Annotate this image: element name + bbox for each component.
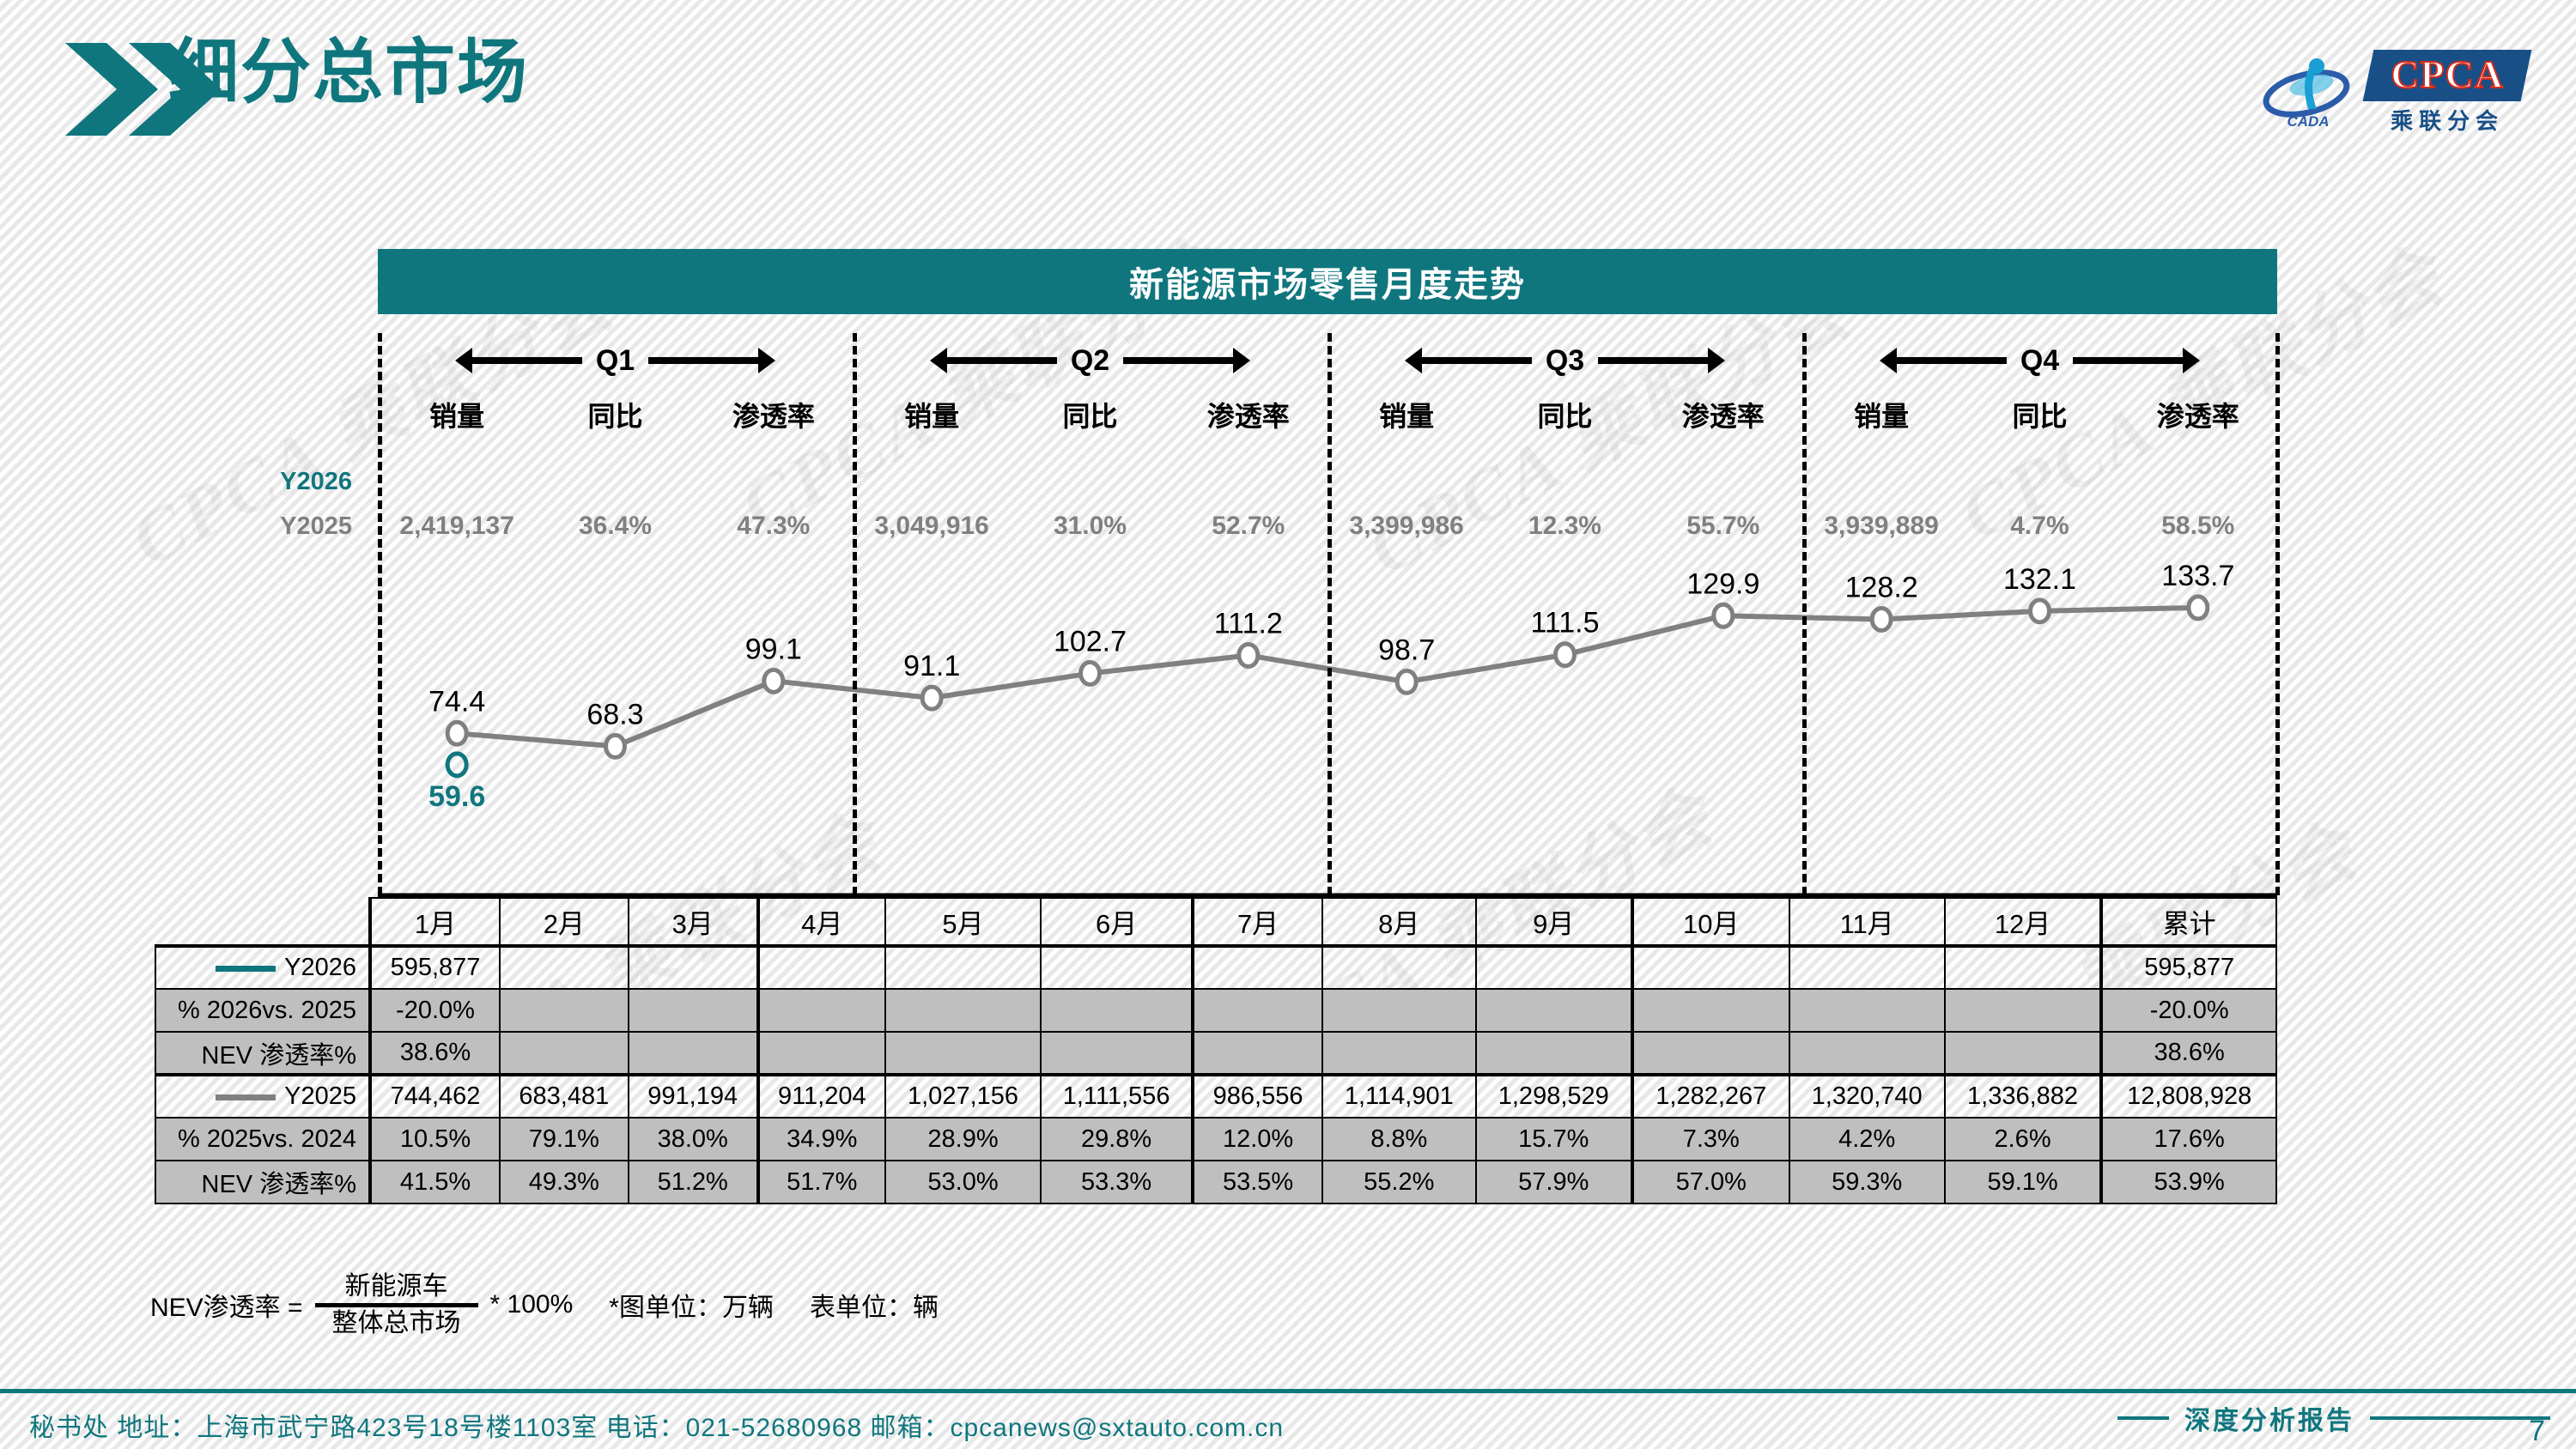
quarter-label: Q3	[1540, 344, 1589, 378]
table-row: % 2026vs. 2025 -20.0% -20.0%	[155, 989, 2276, 1032]
table-cell: 59.1%	[1945, 1161, 2102, 1203]
table-cell	[885, 989, 1041, 1032]
footer-report-label: 深度分析报告	[2184, 1399, 2354, 1437]
summary-cell: 3,399,986	[1327, 512, 1485, 541]
table-cell: 57.9%	[1476, 1161, 1633, 1203]
table-cell: 744,462	[370, 1075, 500, 1118]
data-point-label: 111.5	[1530, 607, 1599, 640]
table-row: NEV 渗透率% 41.5% 49.3% 51.2% 51.7% 53.0% 5…	[155, 1161, 2276, 1203]
legend-swatch-gray-icon	[216, 1094, 276, 1100]
table-cell: 1,320,740	[1789, 1075, 1945, 1118]
table-cell-total: 53.9%	[2101, 1161, 2276, 1203]
quarter-divider-end	[2275, 333, 2280, 895]
legend-swatch-teal-icon	[216, 966, 276, 972]
row-label-pct-2026: % 2026vs. 2025	[155, 989, 370, 1032]
svg-text:CADA: CADA	[2287, 113, 2330, 130]
monthly-data-table: 1月 2月 3月 4月 5月 6月 7月 8月 9月 10月 11月 12月 累…	[155, 897, 2277, 1204]
table-cell	[1476, 989, 1633, 1032]
table-cell	[758, 1032, 885, 1075]
column-header-month: 7月	[1193, 898, 1322, 946]
column-header-month: 1月	[370, 898, 500, 946]
data-point-marker	[1714, 604, 1733, 627]
table-cell: 34.9%	[758, 1118, 885, 1161]
footer-contact: 秘书处 地址：上海市武宁路423号18号楼1103室 电话：021-526809…	[29, 1406, 1284, 1444]
metric-header: 同比	[1011, 395, 1169, 446]
column-header-month: 5月	[885, 898, 1041, 946]
metric-header: 同比	[1485, 395, 1643, 446]
formula-numerator: 新能源车	[345, 1272, 448, 1303]
table-cell: 7.3%	[1632, 1118, 1789, 1161]
arrow-left-icon	[471, 357, 582, 364]
metric-header: 销量	[853, 395, 1011, 446]
cpca-wordmark: CPCA 乘联分会	[2368, 50, 2526, 136]
table-cell: -20.0%	[370, 989, 500, 1032]
summary-cell: 47.3%	[695, 512, 853, 541]
metric-header: 同比	[536, 395, 694, 446]
table-cell: 53.5%	[1193, 1161, 1322, 1203]
quarter-divider-q2-q3	[1327, 333, 1332, 895]
table-cell-total: -20.0%	[2101, 989, 2276, 1032]
table-cell	[1476, 1032, 1633, 1075]
table-cell: 49.3%	[500, 1161, 629, 1203]
data-point-marker	[447, 722, 466, 744]
formula-fraction: 新能源车 整体总市场	[315, 1272, 478, 1337]
table-cell: 4.2%	[1789, 1118, 1945, 1161]
arrow-right-icon	[1598, 357, 1710, 364]
row-label-nev-2026: NEV 渗透率%	[155, 1032, 370, 1075]
data-point-label: 98.7	[1378, 634, 1435, 666]
data-point-label: 129.9	[1686, 567, 1759, 600]
data-point-label: 102.7	[1054, 625, 1127, 658]
table-cell	[1041, 989, 1193, 1032]
chart-panel: 新能源市场零售月度走势	[378, 249, 2277, 314]
table-row: % 2025vs. 2024 10.5% 79.1% 38.0% 34.9% 2…	[155, 1118, 2276, 1161]
table-unit-note: 表单位：辆	[810, 1286, 939, 1324]
summary-cell: 31.0%	[1011, 512, 1169, 541]
table-cell-total: 12,808,928	[2101, 1075, 2276, 1118]
cpca-logo: CADA CPCA 乘联分会	[2260, 50, 2526, 136]
cpca-bar: CPCA	[2363, 50, 2532, 101]
page-title: 细分总市场	[168, 26, 529, 120]
table-cell: 595,877	[370, 946, 500, 989]
cpca-brand-text: CPCA	[2391, 52, 2504, 98]
table-row: Y2026 595,877 595,877	[155, 946, 2276, 989]
row-label-y2026: Y2026	[155, 946, 370, 989]
table-cell: 12.0%	[1193, 1118, 1322, 1161]
column-header-month: 3月	[629, 898, 758, 946]
summary-cell: 3,939,889	[1802, 512, 1960, 541]
data-point-label: 74.4	[428, 685, 485, 718]
quarter-group-q2: Q2	[853, 333, 1327, 388]
table-cell: 1,298,529	[1476, 1075, 1633, 1118]
table-cell	[1322, 1032, 1475, 1075]
metric-header: 渗透率	[1170, 395, 1327, 446]
table-cell	[758, 989, 885, 1032]
table-cell	[758, 946, 885, 989]
table-cell: 2.6%	[1945, 1118, 2102, 1161]
table-cell-total: 38.6%	[2101, 1032, 2276, 1075]
table-cell: 991,194	[629, 1075, 758, 1118]
data-point-marker	[2031, 600, 2050, 622]
table-cell	[1322, 989, 1475, 1032]
formula-denominator: 整体总市场	[332, 1307, 461, 1338]
metric-header: 销量	[378, 395, 536, 446]
arrow-left-icon	[1895, 357, 2007, 364]
quarter-divider-q3-q4	[1802, 333, 1807, 895]
summary-cell: 3,049,916	[853, 512, 1011, 541]
metric-header: 渗透率	[695, 395, 853, 446]
column-header-month: 8月	[1322, 898, 1475, 946]
metric-header: 渗透率	[1644, 395, 1802, 446]
summary-cell: 2,419,137	[378, 512, 536, 541]
summary-row-y2026: Y2026	[146, 468, 2277, 496]
column-header-month: 10月	[1632, 898, 1789, 946]
table-cell	[1632, 1032, 1789, 1075]
formula-multiplier: * 100%	[490, 1290, 574, 1319]
column-header-month: 11月	[1789, 898, 1945, 946]
data-point-marker	[447, 754, 466, 776]
data-point-marker	[1397, 670, 1416, 693]
table-cell	[1945, 946, 2102, 989]
table-cell	[500, 946, 629, 989]
summary-cell: 55.7%	[1644, 512, 1802, 541]
column-header-month: 4月	[758, 898, 885, 946]
footer-divider	[0, 1389, 2576, 1393]
table-cell: 53.0%	[885, 1161, 1041, 1203]
cada-emblem-icon: CADA	[2260, 56, 2356, 130]
row-label-y2025: Y2025	[155, 1075, 370, 1118]
table-cell	[500, 989, 629, 1032]
data-point-label: 91.1	[903, 650, 960, 682]
footer-dash-left	[2117, 1416, 2169, 1420]
table-row: Y2025 744,462 683,481 991,194 911,204 1,…	[155, 1075, 2276, 1118]
data-point-marker	[606, 735, 625, 757]
table-cell	[629, 946, 758, 989]
data-point-marker	[1239, 644, 1258, 666]
table-cell-total: 595,877	[2101, 946, 2276, 989]
arrow-right-icon	[648, 357, 760, 364]
metric-header: 渗透率	[2119, 395, 2277, 446]
table-row: NEV 渗透率% 38.6% 38.6%	[155, 1032, 2276, 1075]
footer-dash-right	[2370, 1416, 2550, 1420]
summary-cell: 52.7%	[1170, 512, 1327, 541]
quarter-group-q4: Q4	[1802, 333, 2277, 388]
table-cell	[1632, 946, 1789, 989]
nev-formula-note: NEV渗透率 = 新能源车 整体总市场 * 100% *图单位：万辆 表单位：辆	[150, 1272, 939, 1337]
column-header-month: 9月	[1476, 898, 1633, 946]
table-cell: 15.7%	[1476, 1118, 1633, 1161]
quarter-divider-start	[378, 333, 382, 895]
table-cell: 38.0%	[629, 1118, 758, 1161]
table-cell: 55.2%	[1322, 1161, 1475, 1203]
column-header-month: 6月	[1041, 898, 1193, 946]
chart-title: 新能源市场零售月度走势	[378, 249, 2277, 314]
table-cell: 10.5%	[370, 1118, 500, 1161]
table-cell: 79.1%	[500, 1118, 629, 1161]
arrow-right-icon	[1123, 357, 1235, 364]
table-header-row: 1月 2月 3月 4月 5月 6月 7月 8月 9月 10月 11月 12月 累…	[155, 898, 2276, 946]
table-cell	[1945, 989, 2102, 1032]
metric-header: 销量	[1327, 395, 1485, 446]
table-cell	[1041, 1032, 1193, 1075]
arrow-left-icon	[945, 357, 1057, 364]
table-cell	[1322, 946, 1475, 989]
table-cell: 59.3%	[1789, 1161, 1945, 1203]
summary-cell: 58.5%	[2119, 512, 2277, 541]
table-cell	[629, 1032, 758, 1075]
data-point-label: 111.2	[1214, 607, 1283, 640]
data-point-label: 128.2	[1845, 571, 1918, 603]
table-cell	[1632, 989, 1789, 1032]
table-cell	[1789, 989, 1945, 1032]
table-cell	[1945, 1032, 2102, 1075]
table-cell	[629, 989, 758, 1032]
column-header-month: 2月	[500, 898, 629, 946]
table-cell	[1789, 946, 1945, 989]
table-cell	[1193, 1032, 1322, 1075]
cpca-brand-cn: 乘联分会	[2391, 104, 2504, 136]
table-cell: 911,204	[758, 1075, 885, 1118]
summary-row-label: Y2026	[146, 468, 378, 496]
table-cell: 1,111,556	[1041, 1075, 1193, 1118]
metric-header: 销量	[1802, 395, 1960, 446]
column-header-total: 累计	[2101, 898, 2276, 946]
arrow-left-icon	[1420, 357, 1532, 364]
data-point-marker	[1872, 608, 1891, 630]
table-cell: 1,114,901	[1322, 1075, 1475, 1118]
page-number: 7	[2529, 1415, 2545, 1448]
data-point-label: 133.7	[2161, 560, 2234, 592]
table-cell: 1,336,882	[1945, 1075, 2102, 1118]
table-cell: 1,027,156	[885, 1075, 1041, 1118]
table-cell: 38.6%	[370, 1032, 500, 1075]
table-cell: 986,556	[1193, 1075, 1322, 1118]
table-cell	[1041, 946, 1193, 989]
footer-report-label-group: 深度分析报告	[2117, 1399, 2550, 1437]
table-cell	[1476, 946, 1633, 989]
data-point-marker	[1081, 662, 1100, 684]
data-point-marker	[764, 670, 783, 692]
table-cell: 53.3%	[1041, 1161, 1193, 1203]
arrow-right-icon	[2073, 357, 2184, 364]
page-header: 细分总市场 CADA CPCA 乘联分会	[0, 0, 2576, 180]
summary-row-label: Y2025	[146, 512, 378, 541]
data-point-label: 132.1	[2003, 563, 2076, 596]
quarter-label: Q1	[591, 344, 640, 378]
summary-row-y2025: Y2025 2,419,137 36.4% 47.3% 3,049,916 31…	[146, 512, 2277, 541]
table-cell	[500, 1032, 629, 1075]
table-cell	[1193, 989, 1322, 1032]
table-cell	[1789, 1032, 1945, 1075]
quarter-divider-q1-q2	[853, 333, 857, 895]
data-point-label: 99.1	[745, 633, 802, 665]
row-label-nev-2025: NEV 渗透率%	[155, 1161, 370, 1203]
table-cell: 1,282,267	[1632, 1075, 1789, 1118]
table-cell: 41.5%	[370, 1161, 500, 1203]
table-cell: 28.9%	[885, 1118, 1041, 1161]
quarter-label: Q2	[1066, 344, 1115, 378]
metric-header: 同比	[1960, 395, 2118, 446]
table-corner-cell	[155, 898, 370, 946]
data-point-label: 59.6	[428, 780, 485, 813]
table-cell: 51.7%	[758, 1161, 885, 1203]
data-point-label: 68.3	[586, 698, 643, 731]
table-cell: 57.0%	[1632, 1161, 1789, 1203]
row-label-text: Y2026	[284, 954, 356, 981]
table-cell: 683,481	[500, 1075, 629, 1118]
table-cell	[885, 946, 1041, 989]
table-cell: 51.2%	[629, 1161, 758, 1203]
summary-cell: 36.4%	[536, 512, 694, 541]
data-point-marker	[1556, 644, 1575, 666]
formula-lead: NEV渗透率 =	[150, 1286, 303, 1324]
table-cell-total: 17.6%	[2101, 1118, 2276, 1161]
table-cell: 8.8%	[1322, 1118, 1475, 1161]
quarter-group-q3: Q3	[1327, 333, 1802, 388]
table-cell	[885, 1032, 1041, 1075]
column-header-month: 12月	[1945, 898, 2102, 946]
quarter-label: Q4	[2015, 344, 2064, 378]
summary-cell: 4.7%	[1960, 512, 2118, 541]
chart-unit-note: *图单位：万辆	[609, 1286, 774, 1324]
row-label-text: Y2025	[284, 1082, 356, 1110]
table-cell	[1193, 946, 1322, 989]
summary-cell: 12.3%	[1485, 512, 1643, 541]
data-point-marker	[2189, 597, 2208, 619]
quarter-group-q1: Q1	[378, 333, 853, 388]
table-cell: 29.8%	[1041, 1118, 1193, 1161]
data-point-marker	[922, 687, 941, 709]
row-label-pct-2025: % 2025vs. 2024	[155, 1118, 370, 1161]
